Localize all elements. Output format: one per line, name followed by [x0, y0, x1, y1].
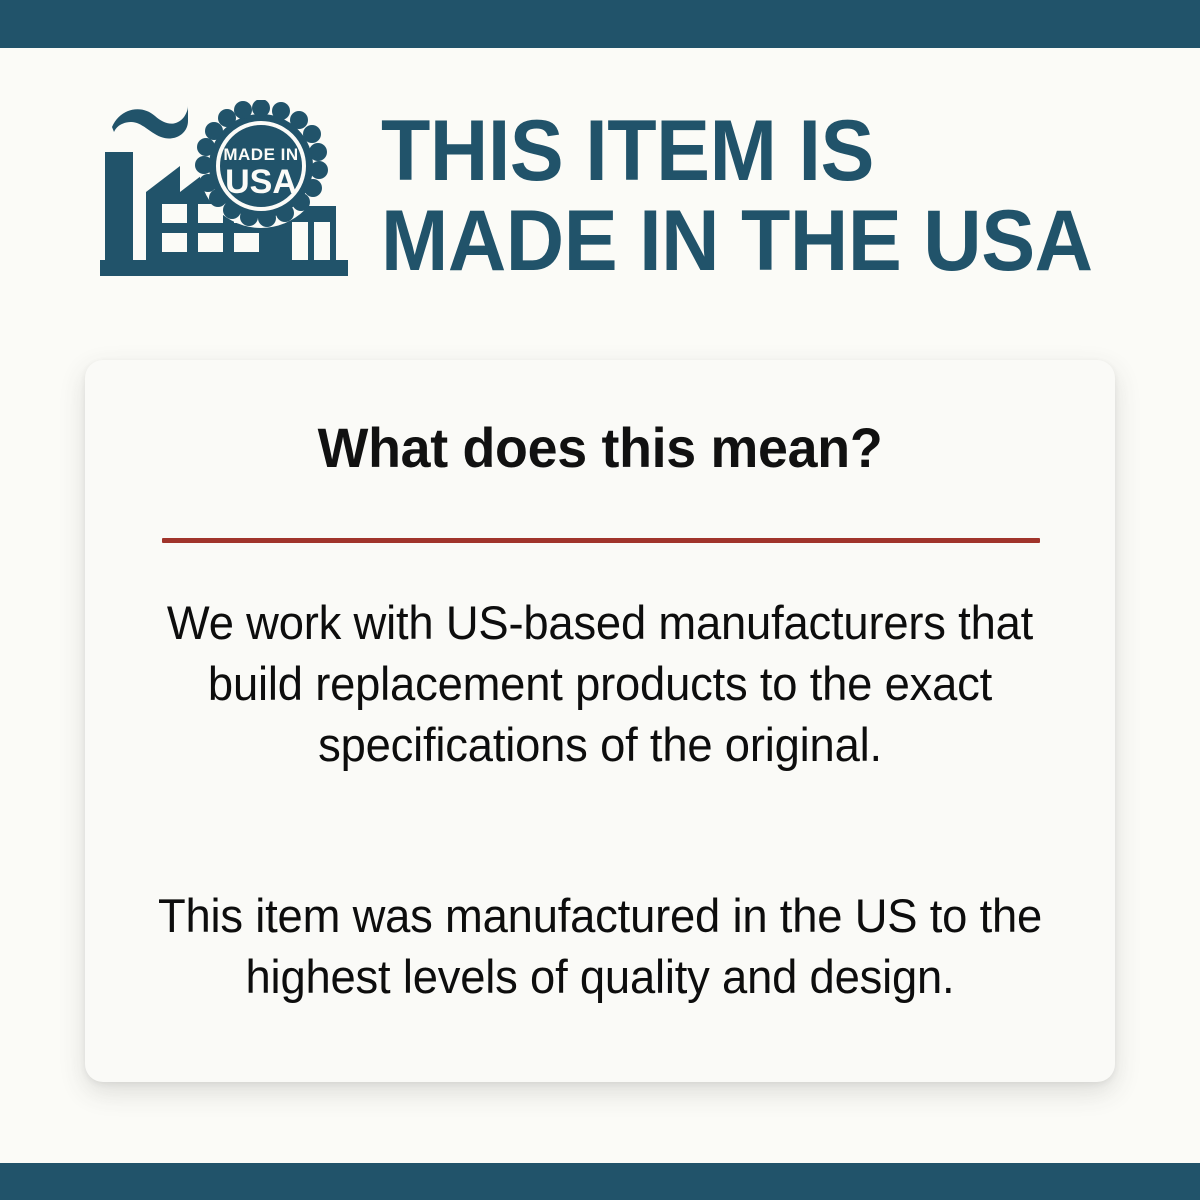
bottom-accent-bar [0, 1163, 1200, 1200]
header-banner: MADE IN USA THIS ITEM IS MADE IN THE USA [0, 48, 1200, 300]
card-paragraph-primary: We work with US-based manufacturers that… [127, 592, 1073, 775]
page-title: THIS ITEM IS MADE IN THE USA [381, 106, 1171, 286]
card-divider [162, 538, 1040, 543]
page-title-line-2: MADE IN THE USA [381, 196, 1124, 286]
factory-icon: MADE IN USA [100, 100, 348, 280]
info-card: What does this mean? We work with US-bas… [85, 360, 1115, 1082]
card-paragraph-secondary: This item was manufactured in the US to … [127, 885, 1073, 1007]
card-heading: What does this mean? [106, 418, 1095, 478]
page-root: MADE IN USA THIS ITEM IS MADE IN THE USA… [0, 0, 1200, 1200]
top-accent-bar [0, 0, 1200, 48]
seal-line-2-text: USA [225, 163, 297, 201]
seal-line-1-text: MADE IN [223, 145, 298, 164]
page-title-line-1: THIS ITEM IS [381, 106, 1124, 196]
card-body: We work with US-based manufacturers that… [110, 592, 1090, 1007]
